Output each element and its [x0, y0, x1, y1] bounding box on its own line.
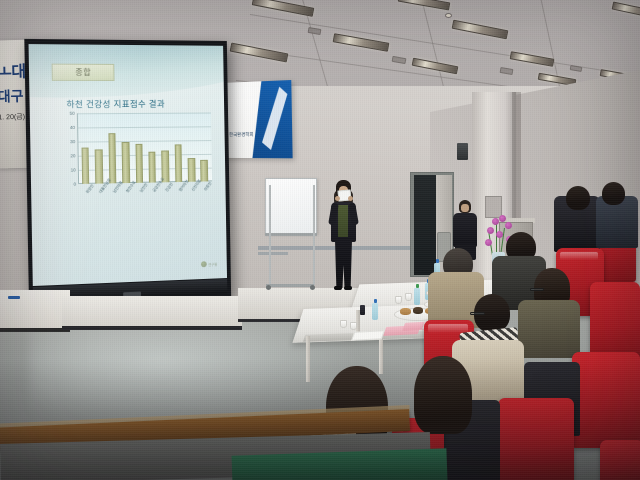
- chart-bar: [174, 145, 182, 183]
- chart-x-tick-label: 위양천: [85, 186, 94, 195]
- slide-logo-icon: [201, 261, 207, 267]
- white-handout[interactable]: [351, 330, 385, 341]
- chart-x-tick-label: 청천수로: [125, 185, 133, 194]
- chart-x-tick-label: 진강천: [165, 184, 173, 193]
- emergency-light: [445, 13, 452, 18]
- orchid-bloom: [487, 227, 494, 234]
- whiteboard-leg: [269, 185, 271, 285]
- orchid-bloom: [505, 222, 512, 229]
- auditorium-seat[interactable]: [572, 352, 640, 448]
- projection-screen: 종합 하천 건강성 지표점수 결과 01020304050 위양천대율천상류남천…: [24, 39, 231, 307]
- presenter-shoe: [334, 286, 342, 290]
- chart-x-tick-label: 신천지류: [191, 184, 199, 193]
- slide-section-badge-label: 종합: [75, 67, 91, 78]
- attendant-face: [461, 204, 469, 212]
- audience-torso: [518, 300, 580, 358]
- whiteboard-caster: [310, 285, 315, 290]
- orchid-bloom: [496, 231, 503, 238]
- auditorium-seat[interactable]: [498, 398, 574, 480]
- slide-logo: 연구원: [201, 261, 218, 268]
- chart-y-tick-label: 40: [61, 125, 75, 130]
- chart-x-tick-label: 하류천: [204, 183, 212, 192]
- chart-bar: [135, 144, 143, 183]
- seat-highlight: [428, 324, 468, 333]
- paper-cup: [340, 320, 347, 328]
- eyeglasses: [470, 312, 485, 315]
- slide-logo-text: 연구원: [208, 261, 217, 266]
- presenter-shoe: [344, 286, 352, 290]
- presenter-hand: [348, 196, 353, 201]
- chart-bar: [122, 142, 130, 183]
- whiteboard-caster: [266, 285, 271, 290]
- stage-riser: [62, 296, 242, 330]
- auditorium-photo: ㅗ대 대구 · 1. 20(금) 1 표회 표회 대구대학교 · 한국환경학회 …: [0, 0, 640, 480]
- chart-x-tick-label: 대율천상류: [99, 186, 108, 195]
- audience-head: [414, 356, 472, 434]
- presenter-hand: [335, 196, 340, 201]
- chart-y-tick-label: 30: [61, 139, 75, 144]
- bar-chart: 01020304050 위양천대율천상류남천하류청천수로남천천금강천수로진강천범…: [61, 113, 213, 207]
- standing-presenter: [327, 180, 359, 292]
- chart-x-tick-label: 금강천수로: [152, 184, 160, 193]
- orchid-bloom: [492, 218, 499, 225]
- presentation-slide: 종합 하천 건강성 지표점수 결과 01020304050 위양천대율천상류남천…: [29, 44, 227, 286]
- paper-cup: [405, 293, 412, 301]
- table-leg: [306, 336, 310, 382]
- presenter-legs: [335, 240, 352, 288]
- open-doorway: [414, 175, 436, 275]
- whiteboard-leg: [313, 185, 315, 285]
- water-bottle: [414, 288, 420, 305]
- orchid-bloom: [485, 239, 492, 246]
- chart-y-tick-label: 0: [62, 182, 76, 187]
- drink-can: [360, 305, 365, 315]
- flipchart-whiteboard: [265, 178, 317, 234]
- presenter-top: [338, 205, 348, 237]
- chart-x-tick-label: 남천천: [139, 185, 147, 194]
- chart-bar: [188, 158, 196, 182]
- food-item: [400, 308, 411, 315]
- chart-y-tick-label: 20: [61, 153, 75, 158]
- slide-heading: 하천 건강성 지표점수 결과: [66, 98, 205, 110]
- auditorium-seat[interactable]: [590, 282, 640, 362]
- audience-head: [602, 182, 625, 205]
- chart-y-tick-label: 50: [61, 111, 75, 116]
- water-bottle: [372, 303, 378, 320]
- chart-x-tick-label: 남천하류: [112, 185, 120, 194]
- paper-cup: [395, 296, 402, 304]
- wall-baseboard: [258, 252, 288, 255]
- slide-section-badge: 종합: [52, 64, 115, 81]
- chart-bar: [81, 147, 89, 184]
- food-item: [413, 307, 423, 314]
- wall-speaker: [457, 143, 468, 160]
- chart-bar: [201, 159, 209, 181]
- banner-left-line1: ㅗ대: [0, 58, 26, 83]
- paper-cup: [350, 322, 357, 330]
- chart-x-axis-labels: 위양천대율천상류남천하류청천수로남천천금강천수로진강천범어하천신천지류하류천: [79, 181, 211, 206]
- chart-bar: [108, 133, 116, 184]
- whiteboard-tray: [265, 233, 317, 236]
- chart-bars: [78, 113, 211, 184]
- chart-x-tick-label: 범어하천: [178, 184, 186, 193]
- attendant-jacket: [453, 213, 477, 247]
- auditorium-seat[interactable]: [600, 440, 640, 480]
- whiteboard-base: [266, 284, 314, 287]
- chart-y-tick-label: 10: [62, 167, 76, 172]
- audience-head: [566, 186, 590, 210]
- chart-bar: [148, 152, 156, 183]
- orchid-bloom: [499, 215, 506, 222]
- eyeglasses: [530, 288, 544, 291]
- seat-highlight: [560, 252, 598, 260]
- cabinet-logo: [8, 296, 20, 299]
- screen-surface: 종합 하천 건강성 지표점수 결과 01020304050 위양천대율천상류남천…: [29, 44, 227, 286]
- chart-bar: [95, 150, 103, 184]
